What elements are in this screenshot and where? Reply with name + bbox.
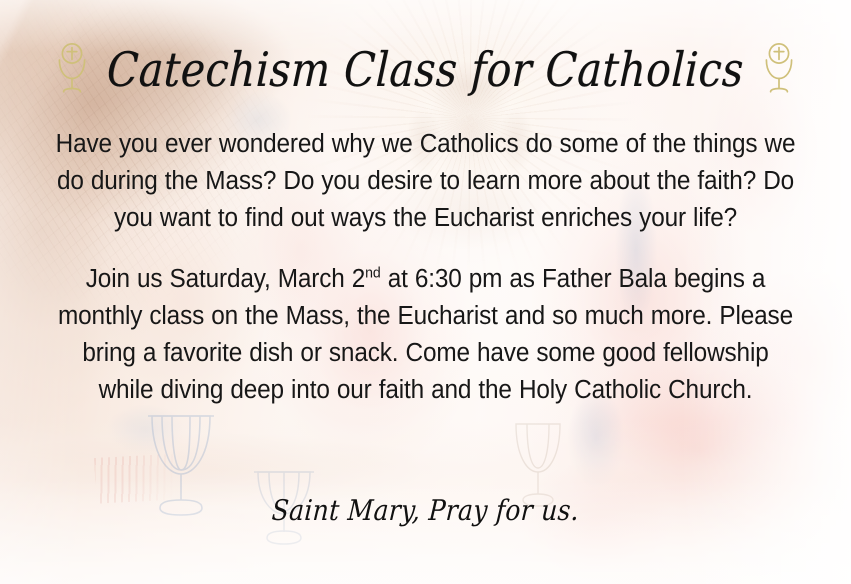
chalice-with-host-icon-right — [762, 40, 796, 101]
chalice-with-host-icon-left — [55, 40, 89, 101]
flyer-canvas: Catechism Class for Catholics Have you e… — [0, 0, 851, 584]
details-text-before-ordinal: Join us Saturday, March 2 — [86, 265, 365, 293]
details-paragraph: Join us Saturday, March 2nd at 6:30 pm a… — [54, 261, 798, 409]
closing-prayer-line: Saint Mary, Pray for us. — [0, 496, 851, 525]
title-row: Catechism Class for Catholics — [0, 38, 851, 102]
page-title: Catechism Class for Catholics — [106, 46, 745, 94]
body-copy: Have you ever wondered why we Catholics … — [36, 126, 815, 409]
flyer-content: Catechism Class for Catholics Have you e… — [0, 0, 851, 584]
date-ordinal-suffix: nd — [365, 266, 380, 282]
intro-paragraph: Have you ever wondered why we Catholics … — [54, 126, 798, 237]
